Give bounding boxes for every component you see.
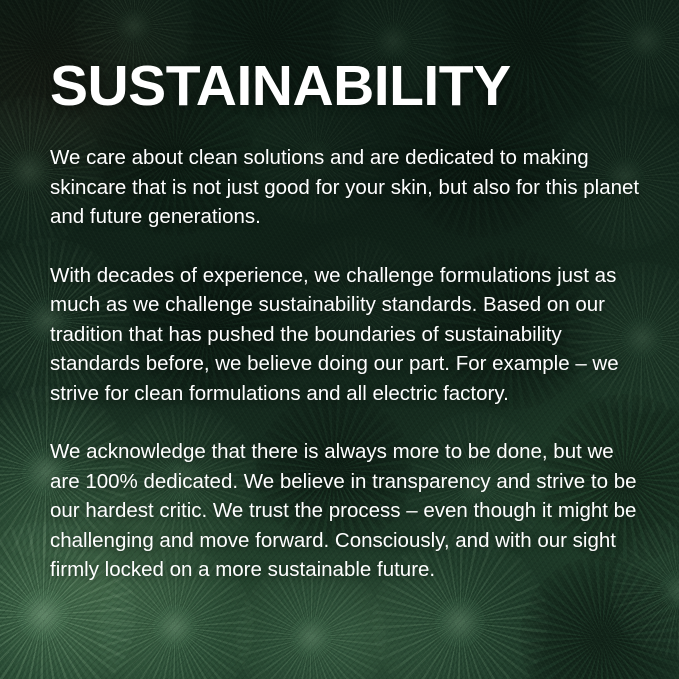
page-title: SUSTAINABILITY: [50, 58, 648, 115]
text-content-block: SUSTAINABILITY We care about clean solut…: [50, 58, 648, 585]
paragraph-1: We care about clean solutions and are de…: [50, 143, 648, 232]
paragraph-3: We acknowledge that there is always more…: [50, 437, 648, 585]
body-copy: We care about clean solutions and are de…: [50, 143, 648, 585]
paragraph-2: With decades of experience, we challenge…: [50, 261, 648, 409]
sustainability-banner: SUSTAINABILITY We care about clean solut…: [0, 0, 679, 679]
